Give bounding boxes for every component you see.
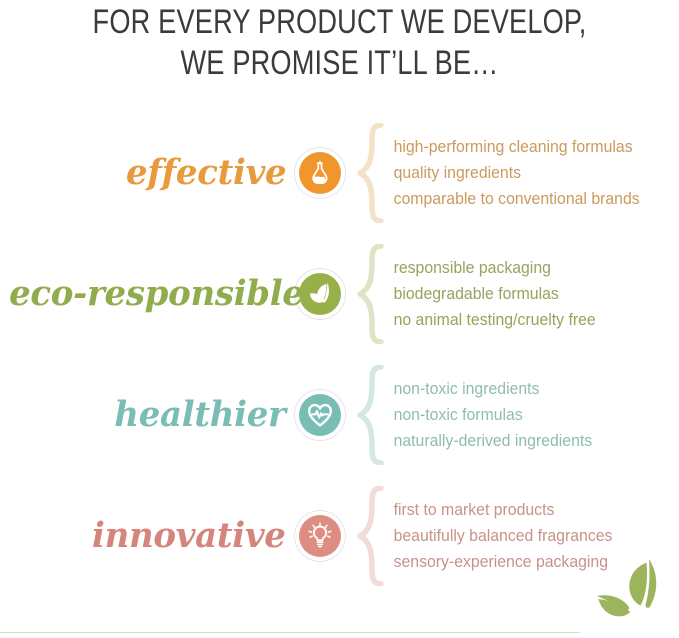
- promise-term-wrap: eco-responsible: [0, 275, 292, 313]
- brace-bracket: [354, 244, 388, 344]
- brace-bracket: [354, 486, 388, 586]
- promise-bullet: comparable to conventional brands: [394, 186, 659, 212]
- page-title-line-2: WE PROMISE IT’LL BE…: [68, 43, 611, 84]
- promise-bullet: non-toxic ingredients: [394, 376, 659, 402]
- promise-bullet: beautifully balanced fragrances: [394, 523, 659, 549]
- promise-bullet: responsible packaging: [394, 255, 659, 281]
- promise-term: healthier: [115, 396, 286, 434]
- brace-bracket: [354, 123, 388, 223]
- promise-term: effective: [126, 154, 286, 192]
- promise-term: eco-responsible: [9, 275, 304, 313]
- promise-term-wrap: healthier: [0, 396, 292, 434]
- promise-bullets: responsible packaging biodegradable form…: [388, 255, 659, 333]
- footer-divider: [0, 632, 580, 633]
- leaf-icon: [299, 273, 341, 315]
- page-title-line-1: FOR EVERY PRODUCT WE DEVELOP,: [68, 2, 611, 43]
- promise-icon-wrap: [292, 266, 348, 322]
- leaf-logo-mark: [591, 556, 671, 638]
- promise-list: effective high-performing cle: [0, 112, 679, 596]
- promise-bullet: no animal testing/cruelty free: [394, 307, 659, 333]
- flask-icon: [299, 152, 341, 194]
- promise-bullets: non-toxic ingredients non-toxic formulas…: [388, 376, 659, 454]
- promise-row-innovative: innovative: [0, 475, 679, 596]
- page-title: FOR EVERY PRODUCT WE DEVELOP, WE PROMISE…: [68, 0, 611, 84]
- promise-bullet: naturally-derived ingredients: [394, 428, 659, 454]
- promise-bullet: first to market products: [394, 497, 659, 523]
- promise-bullet: quality ingredients: [394, 160, 659, 186]
- promise-bullet: non-toxic formulas: [394, 402, 659, 428]
- lightbulb-idea-icon: [299, 515, 341, 557]
- promise-bullet: high-performing cleaning formulas: [394, 134, 659, 160]
- promise-icon-wrap: [292, 508, 348, 564]
- promise-row-healthier: healthier non-toxic ingredients non-toxi…: [0, 354, 679, 475]
- promise-bullet: biodegradable formulas: [394, 281, 659, 307]
- heart-pulse-icon: [299, 394, 341, 436]
- promise-row-eco-responsible: eco-responsible responsible packaging bi…: [0, 233, 679, 354]
- promise-row-effective: effective high-performing cle: [0, 112, 679, 233]
- brace-bracket: [354, 365, 388, 465]
- promise-bullets: high-performing cleaning formulas qualit…: [388, 134, 659, 212]
- promise-term-wrap: innovative: [0, 517, 292, 555]
- promise-term: innovative: [92, 517, 286, 555]
- promise-icon-wrap: [292, 387, 348, 443]
- promise-term-wrap: effective: [0, 154, 292, 192]
- promise-icon-wrap: [292, 145, 348, 201]
